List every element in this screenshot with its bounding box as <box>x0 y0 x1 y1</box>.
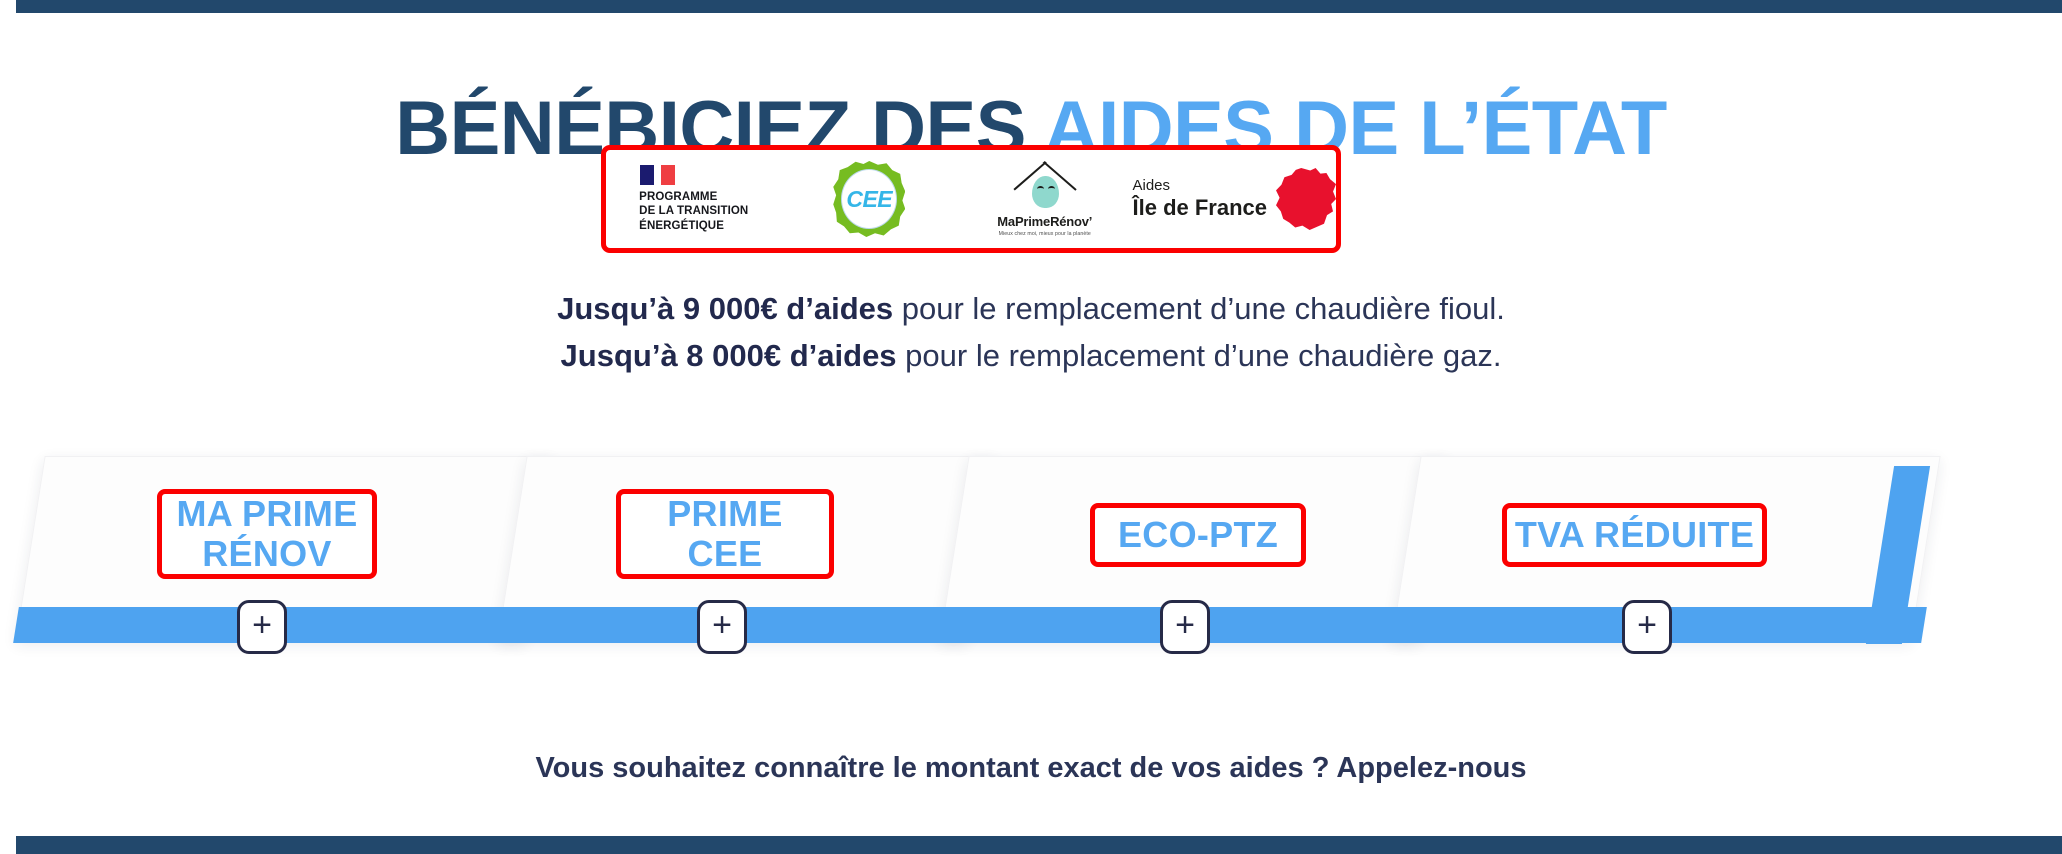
aid-chip-tva-reduite[interactable]: TVA RÉDUITE <box>1502 503 1767 567</box>
french-flag-icon <box>640 165 675 185</box>
aid-amounts: Jusqu’à 9 000€ d’aides pour le remplacem… <box>0 285 2062 379</box>
logo-programme-transition-energetique: PROGRAMME DE LA TRANSITION ÉNERGÉTIQUE <box>606 150 782 248</box>
maprimerenov-name: MaPrimeRénov’ <box>997 214 1092 229</box>
expand-button-prime-cee[interactable]: + <box>697 600 747 654</box>
call-to-action-text: Vous souhaitez connaître le montant exac… <box>0 752 2062 785</box>
bottom-rule <box>16 836 2062 854</box>
idf-small-label: Aides <box>1133 178 1171 195</box>
french-flag-blue-icon <box>640 165 654 185</box>
aid-chip-ma-prime-renov[interactable]: MA PRIME RÉNOV <box>157 489 377 579</box>
aid-amount-rest: pour le remplacement d’une chaudière fio… <box>893 291 1505 326</box>
aides-etat-section: BÉNÉBICIEZ DES AIDES DE L’ÉTAT PROGRAMME… <box>0 0 2062 854</box>
aid-amount-rest: pour le remplacement d’une chaudière gaz… <box>897 338 1502 373</box>
aid-amount-strong: Jusqu’à 9 000€ d’aides <box>557 291 893 326</box>
maprimerenov-tagline: Mieux chez moi, mieux pour la planète <box>999 231 1091 237</box>
aid-amount-line: Jusqu’à 9 000€ d’aides pour le remplacem… <box>0 285 2062 332</box>
aid-amount-line: Jusqu’à 8 000€ d’aides pour le remplacem… <box>0 332 2062 379</box>
logo-cee: CEE <box>782 150 958 248</box>
maprimerenov-house-icon <box>1006 161 1084 209</box>
logo-maprimerenov: MaPrimeRénov’ Mieux chez moi, mieux pour… <box>957 150 1133 248</box>
french-flag-red-icon <box>661 165 675 185</box>
ile-de-france-map-icon <box>1276 168 1336 230</box>
expand-button-eco-ptz[interactable]: + <box>1160 600 1210 654</box>
cee-label: CEE <box>846 186 892 213</box>
expand-button-ma-prime-renov[interactable]: + <box>237 600 287 654</box>
aid-chip-eco-ptz[interactable]: ECO-PTZ <box>1090 503 1306 567</box>
aid-chip-prime-cee[interactable]: PRIME CEE <box>616 489 834 579</box>
aid-amount-strong: Jusqu’à 8 000€ d’aides <box>561 338 897 373</box>
expand-button-tva-reduite[interactable]: + <box>1622 600 1672 654</box>
idf-big-label: Île de France <box>1133 195 1268 220</box>
cee-inner-circle: CEE <box>841 169 897 229</box>
top-rule <box>16 0 2062 13</box>
logo-aides-ile-de-france: Aides Île de France <box>1133 150 1337 248</box>
logo-programme-caption: PROGRAMME DE LA TRANSITION ÉNERGÉTIQUE <box>639 190 748 232</box>
partner-logo-strip: PROGRAMME DE LA TRANSITION ÉNERGÉTIQUE C… <box>601 145 1341 253</box>
